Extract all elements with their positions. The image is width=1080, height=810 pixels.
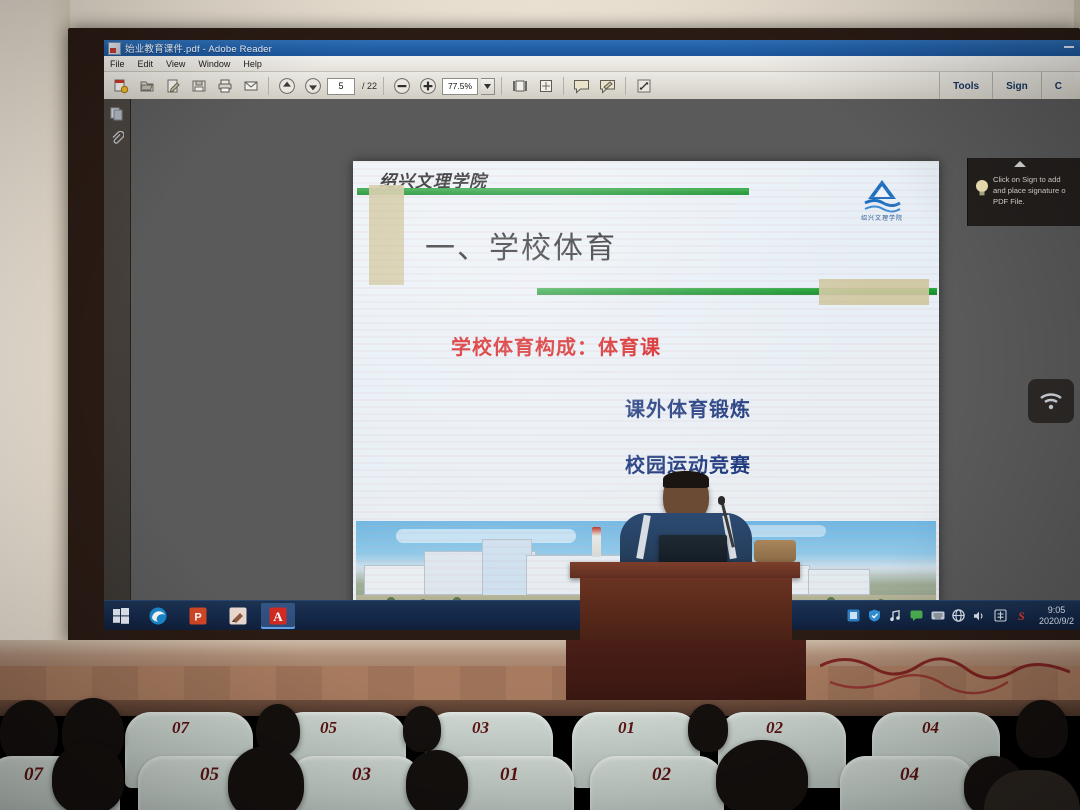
university-logo-caption: 绍兴文理学院 xyxy=(851,213,913,222)
highlight-icon[interactable] xyxy=(596,75,619,97)
zoom-out-icon[interactable] xyxy=(390,75,413,97)
menu-item-view[interactable]: View xyxy=(166,59,185,69)
seat-number: 04 xyxy=(922,718,939,738)
audience-head xyxy=(52,742,124,810)
music-icon[interactable] xyxy=(889,609,903,623)
toolbar-separator xyxy=(268,77,269,95)
menu-item-file[interactable]: File xyxy=(110,59,125,69)
seat-number: 04 xyxy=(900,764,919,786)
print-icon[interactable] xyxy=(213,75,236,97)
next-page-icon[interactable] xyxy=(301,75,324,97)
presenter-hair xyxy=(663,471,709,488)
svg-text:P: P xyxy=(194,611,201,623)
sign-tooltip-panel[interactable]: Click on Sign to add and place signature… xyxy=(967,158,1080,226)
wall-left-panel xyxy=(0,0,70,640)
audience-head xyxy=(1016,700,1068,758)
ime-cn-icon[interactable] xyxy=(994,609,1008,623)
seat-number: 05 xyxy=(320,718,337,738)
clock-time: 9:05 xyxy=(1039,605,1074,616)
seat-number: 03 xyxy=(352,764,371,786)
fit-page-icon[interactable] xyxy=(534,75,557,97)
adobe-reader-icon xyxy=(108,42,121,55)
menu-item-help[interactable]: Help xyxy=(243,59,262,69)
zoom-level-input[interactable]: 77.5% xyxy=(442,78,478,95)
audience-head xyxy=(406,750,468,810)
clock-date: 2020/9/2 xyxy=(1039,616,1074,627)
podium-front xyxy=(580,578,792,640)
open-file-icon[interactable] xyxy=(135,75,158,97)
slide-accent-bar-top xyxy=(357,188,749,195)
zoom-in-icon[interactable] xyxy=(416,75,439,97)
sogou-icon[interactable]: S xyxy=(1015,609,1029,623)
messenger-icon[interactable] xyxy=(910,609,924,623)
sign-tooltip-line-1: Click on Sign to add xyxy=(993,174,1077,185)
main-toolbar: 5 / 22 77.5% xyxy=(104,72,1080,101)
menu-bar[interactable]: File Edit View Window Help xyxy=(104,56,1080,72)
sign-tooltip-line-2: and place signature o xyxy=(993,185,1077,196)
windows-start-icon[interactable] xyxy=(104,601,138,630)
audience-head xyxy=(228,746,304,810)
window-title: 始业教育课件.pdf - Adobe Reader xyxy=(125,41,272,55)
keyboard-icon[interactable] xyxy=(931,609,945,623)
toolbar-separator xyxy=(501,77,502,95)
fit-width-icon[interactable] xyxy=(508,75,531,97)
lecture-hall-scene: 始业教育课件.pdf - Adobe Reader File Edit View… xyxy=(0,0,1080,810)
network-icon[interactable] xyxy=(952,609,966,623)
screenshot-icon[interactable] xyxy=(847,609,861,623)
tools-panel-button[interactable]: Tools xyxy=(939,72,992,100)
chevron-up-icon[interactable] xyxy=(1014,161,1026,167)
seat-number: 01 xyxy=(500,764,519,786)
toolbar-right-panels: Tools Sign C xyxy=(939,72,1075,100)
volume-icon[interactable] xyxy=(973,609,987,623)
toolbar-separator xyxy=(383,77,384,95)
seat-number: 07 xyxy=(172,718,189,738)
svg-text:A: A xyxy=(273,609,283,624)
stage-cable xyxy=(820,652,1070,696)
attachments-icon[interactable] xyxy=(108,129,126,147)
university-logo: 绍兴文理学院 xyxy=(851,177,913,231)
sign-panel-button[interactable]: Sign xyxy=(992,72,1041,100)
seat-number: 02 xyxy=(766,718,783,738)
navigation-pane[interactable] xyxy=(104,99,131,630)
toolbar-separator xyxy=(625,77,626,95)
slide-title: 一、学校体育 xyxy=(425,223,617,267)
page-total-label: / 22 xyxy=(362,81,377,91)
slide-accent-block-horizontal xyxy=(819,279,929,305)
security-shield-icon[interactable] xyxy=(868,609,882,623)
water-bottle xyxy=(592,527,601,557)
menu-item-window[interactable]: Window xyxy=(198,59,230,69)
window-titlebar[interactable]: 始业教育课件.pdf - Adobe Reader xyxy=(104,40,1080,56)
audience-head xyxy=(716,740,808,810)
page-thumbnails-icon[interactable] xyxy=(108,105,126,123)
seat-number: 03 xyxy=(472,718,489,738)
sticky-note-icon[interactable] xyxy=(570,75,593,97)
sign-tooltip-text: Click on Sign to add and place signature… xyxy=(993,174,1077,207)
bag xyxy=(754,540,796,562)
minimize-button[interactable] xyxy=(1064,46,1074,48)
taskbar-app-powerpoint[interactable]: P xyxy=(181,603,215,629)
microphone-head xyxy=(718,496,725,505)
seat-number: 02 xyxy=(652,764,671,786)
audience-head xyxy=(0,700,58,764)
email-icon[interactable] xyxy=(239,75,262,97)
building xyxy=(808,569,870,595)
building xyxy=(482,539,532,597)
fullscreen-icon[interactable] xyxy=(632,75,655,97)
slide-accent-block-vertical xyxy=(369,185,404,285)
podium-top xyxy=(570,562,800,578)
chevron-down-icon[interactable] xyxy=(481,78,495,95)
page-viewport[interactable]: 绍兴文理学院 绍兴文理学院 一、学校体育 xyxy=(131,99,1080,630)
taskbar-app-edge[interactable] xyxy=(141,603,175,629)
save-icon[interactable] xyxy=(187,75,210,97)
audience-head xyxy=(403,706,441,752)
seat-number: 01 xyxy=(618,718,635,738)
slide-body-line-2: 课外体育锻炼 xyxy=(625,393,751,422)
svg-text:S: S xyxy=(1019,609,1026,622)
seat-number: 07 xyxy=(24,764,43,786)
menu-item-edit[interactable]: Edit xyxy=(138,59,154,69)
system-tray: S 9:05 2020/9/2 xyxy=(847,605,1080,627)
comment-panel-button[interactable]: C xyxy=(1041,72,1075,100)
edit-pdf-icon[interactable] xyxy=(161,75,184,97)
previous-page-icon[interactable] xyxy=(275,75,298,97)
taskbar-app-adobe-reader[interactable]: A xyxy=(261,603,295,629)
seat-number: 05 xyxy=(200,764,219,786)
wifi-icon[interactable] xyxy=(1028,379,1074,423)
audience-head xyxy=(688,704,728,752)
create-pdf-icon[interactable] xyxy=(109,75,132,97)
taskbar-clock[interactable]: 9:05 2020/9/2 xyxy=(1036,605,1074,627)
toolbar-separator xyxy=(563,77,564,95)
sign-tooltip-line-3: PDF File. xyxy=(993,196,1077,207)
slide-body-line-1: 学校体育构成：体育课 xyxy=(451,331,661,360)
taskbar-app-editor[interactable] xyxy=(221,603,255,629)
lightbulb-icon xyxy=(974,178,990,198)
page-number-input[interactable]: 5 xyxy=(327,78,355,95)
